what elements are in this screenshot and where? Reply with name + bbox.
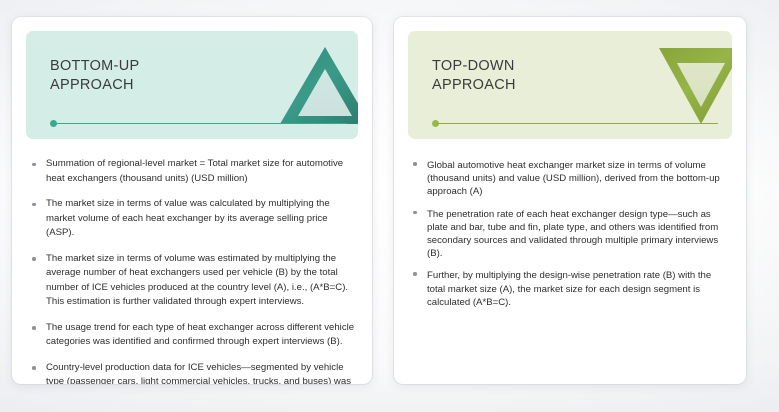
panel-top-down-header: TOP-DOWN APPROACH [408,31,732,139]
panel-top-down: TOP-DOWN APPROACH [394,17,746,384]
list-item: The market size in terms of volume was e… [29,252,358,310]
panel-top-down-connector [432,119,732,128]
diagram-canvas: BOTTOM-UP APPROACH [0,0,779,412]
list-item: The penetration rate of each heat exchan… [410,208,728,261]
panel-bottom-up: BOTTOM-UP APPROACH [12,17,372,384]
panel-bottom-up-bullets: Summation of regional-level market = Tot… [12,157,372,384]
list-item: Further, by multiplying the design-wise … [410,269,728,309]
panel-bottom-up-header: BOTTOM-UP APPROACH [26,31,358,139]
panel-bottom-up-connector [50,119,358,128]
panel-top-down-bullets: Global automotive heat exchanger market … [394,159,746,318]
list-item: Summation of regional-level market = Tot… [29,157,358,186]
connector-line [55,123,347,124]
list-item: Country-level production data for ICE ve… [29,361,358,385]
list-item: The market size in terms of value was ca… [29,197,358,241]
panel-top-down-title: TOP-DOWN APPROACH [432,57,516,95]
list-item: Global automotive heat exchanger market … [410,159,728,199]
list-item: The usage trend for each type of heat ex… [29,321,358,350]
panel-bottom-up-title: BOTTOM-UP APPROACH [50,57,139,95]
connector-line [437,123,718,124]
approach-panels: BOTTOM-UP APPROACH [0,0,779,412]
